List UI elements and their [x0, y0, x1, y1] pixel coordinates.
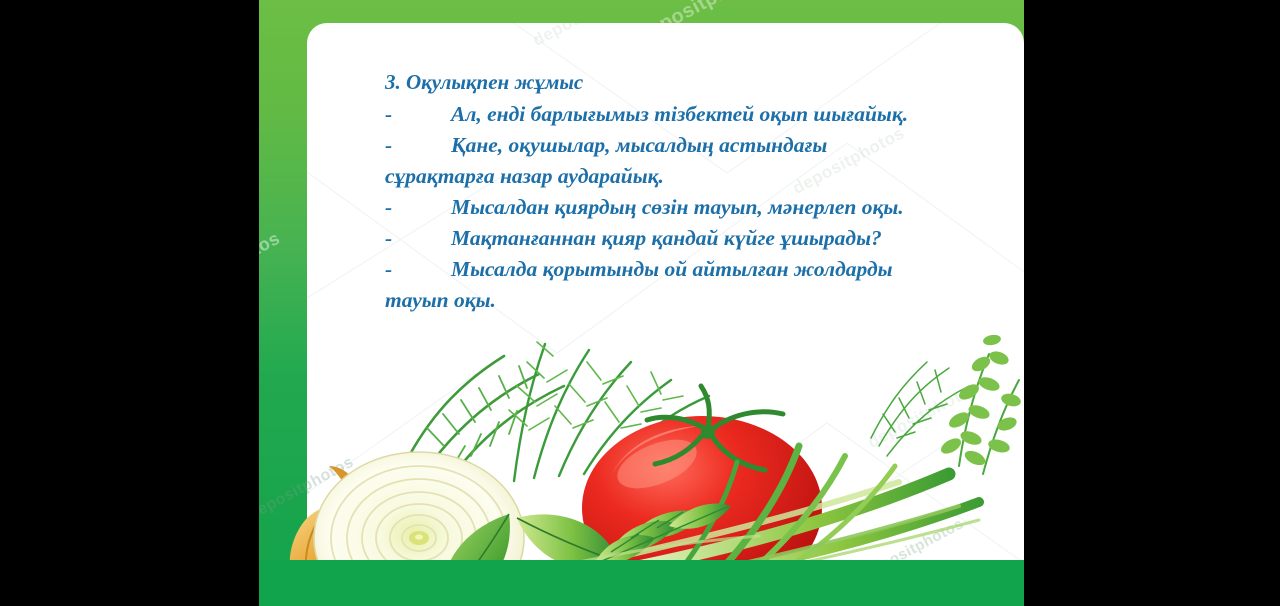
bullet-dash: - — [385, 223, 451, 254]
slide-text-block: 3. Оқулықпен жұмыс -Ал, енді барлығымыз … — [385, 67, 995, 316]
bullet-dash: - — [385, 99, 451, 130]
bullet-dash: - — [385, 254, 451, 285]
bullet-item-1: -Ал, енді барлығымыз тізбектей оқып шыға… — [385, 99, 995, 130]
slide-heading: 3. Оқулықпен жұмыс — [385, 67, 995, 98]
bullet-item-5: -Мысалда қорытынды ой айтылған жолдарды — [385, 254, 995, 285]
slide-canvas: depositphotos depositphotos depositphoto… — [259, 0, 1024, 606]
bullet-text: Қане, оқушылар, мысалдың астындағы — [451, 133, 827, 157]
bullet-text: Мысалдан қиярдың сөзін тауып, мәнерлеп о… — [451, 195, 904, 219]
bullet-dash: - — [385, 130, 451, 161]
bullet-item-2: -Қане, оқушылар, мысалдың астындағы — [385, 130, 995, 161]
bullet-text: Мысалда қорытынды ой айтылған жолдарды — [451, 257, 893, 281]
bullet-text: Мақтанғаннан қияр қандай күйге ұшырады? — [451, 226, 882, 250]
bullet-item-2-continuation: сұрақтарға назар аударайық. — [385, 161, 995, 192]
bullet-item-3: -Мысалдан қиярдың сөзін тауып, мәнерлеп … — [385, 192, 995, 223]
watermark-text: otos — [259, 228, 284, 265]
bullet-item-4: -Мақтанғаннан қияр қандай күйге ұшырады? — [385, 223, 995, 254]
bottom-green-band — [259, 560, 1024, 606]
screenshot-stage: depositphotos depositphotos depositphoto… — [0, 0, 1280, 606]
bullet-dash: - — [385, 192, 451, 223]
bullet-text: Ал, енді барлығымыз тізбектей оқып шығай… — [451, 102, 908, 126]
